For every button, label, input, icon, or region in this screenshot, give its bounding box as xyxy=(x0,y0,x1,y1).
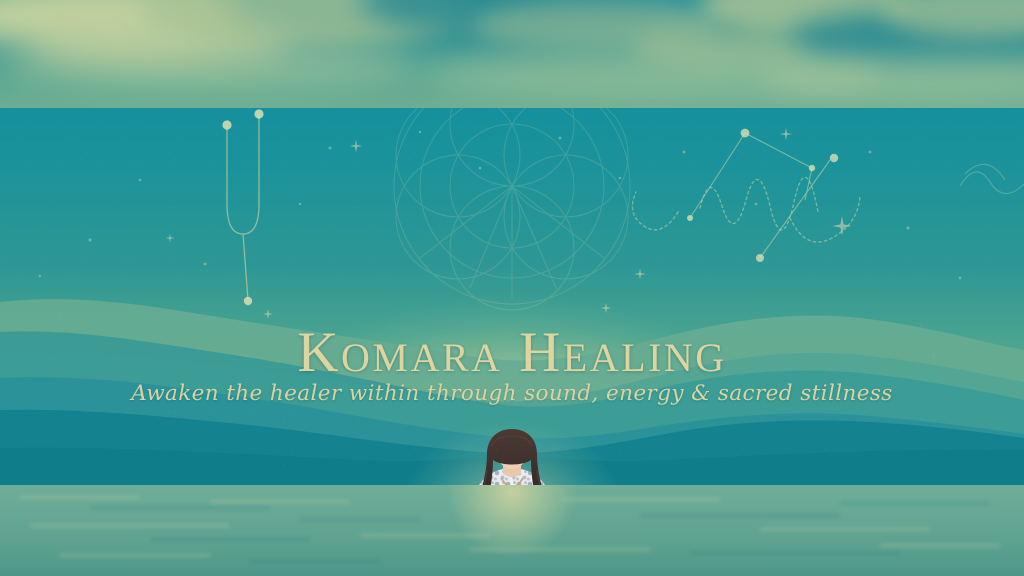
four-point-star xyxy=(350,140,362,152)
sound-wave-squiggle xyxy=(632,177,860,242)
cloud-layer xyxy=(0,0,1024,112)
meditating-figure-group xyxy=(417,426,607,485)
tagline: Awaken the healer within through sound, … xyxy=(0,383,1024,405)
cloud xyxy=(760,56,1024,100)
outer-water-region xyxy=(0,484,1024,576)
constellation-dot xyxy=(687,129,838,262)
sky-region xyxy=(0,0,1024,112)
meditating-woman-lotus-pose xyxy=(417,426,607,485)
four-point-star xyxy=(833,217,852,236)
cloud xyxy=(0,44,420,88)
water-ripples xyxy=(0,484,1024,576)
banner-canvas: Komara Healing Awaken the healer within … xyxy=(0,0,1024,576)
four-point-star xyxy=(780,128,792,140)
constellation-line xyxy=(690,133,830,258)
inner-banner: Komara Healing Awaken the healer within … xyxy=(0,108,1024,485)
page-title: Komara Healing xyxy=(0,324,1024,381)
sound-wave-squiggle xyxy=(960,164,1024,193)
four-point-star xyxy=(166,234,175,243)
